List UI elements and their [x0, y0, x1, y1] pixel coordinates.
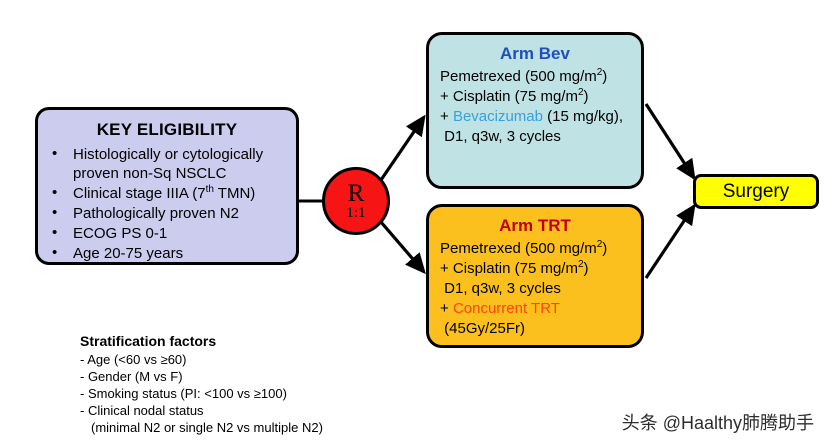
eligibility-item-text: Pathologically proven N2: [73, 205, 239, 222]
arm-bev-regimen: Pemetrexed (500 mg/m2) + Cisplatin (75 m…: [429, 67, 641, 147]
stratification-item: (minimal N2 or single N2 vs multiple N2): [80, 419, 410, 436]
key-eligibility-box: KEY ELIGIBILITY • Histologically or cyto…: [35, 107, 299, 265]
regimen-line: + Concurrent TRT: [440, 299, 641, 319]
bullet-glyph: •: [52, 203, 57, 222]
list-item: • ECOG PS 0-1: [38, 224, 296, 243]
key-eligibility-list: • Histologically or cytologically proven…: [38, 145, 296, 263]
regimen-line: + Cisplatin (75 mg/m2): [440, 87, 641, 107]
randomization-label: R: [348, 182, 365, 205]
connector-randomization-to-arm-bev: [381, 117, 424, 180]
regimen-line: Pemetrexed (500 mg/m2): [440, 67, 641, 87]
stratification-item: - Gender (M vs F): [80, 368, 410, 385]
list-item: • Age 20-75 years: [38, 244, 296, 263]
flowchart-canvas: KEY ELIGIBILITY • Histologically or cyto…: [0, 0, 828, 445]
connector-randomization-to-arm-trt: [381, 222, 424, 272]
connector-arm-trt-to-surgery: [646, 206, 694, 278]
bevacizumab-term: Bevacizumab: [453, 108, 543, 125]
arm-bev-title: Arm Bev: [429, 44, 641, 64]
arm-trt-regimen: Pemetrexed (500 mg/m2) + Cisplatin (75 m…: [429, 239, 641, 339]
watermark: 头条 @Haalthy肺腾助手: [622, 409, 814, 435]
randomization-node: R 1:1: [322, 167, 390, 235]
arm-trt-title: Arm TRT: [429, 216, 641, 236]
list-item: • Histologically or cytologically proven…: [38, 145, 296, 183]
regimen-line: Pemetrexed (500 mg/m2): [440, 239, 641, 259]
list-item: • Pathologically proven N2: [38, 204, 296, 223]
list-item: • Clinical stage IIIA (7th TMN): [38, 184, 296, 203]
eligibility-item-text: Histologically or cytologically proven n…: [73, 146, 263, 182]
randomization-ratio: 1:1: [346, 205, 365, 221]
stratification-factors: Stratification factors - Age (<60 vs ≥60…: [80, 333, 410, 436]
bullet-glyph: •: [52, 183, 57, 202]
stratification-item: - Clinical nodal status: [80, 402, 410, 419]
eligibility-item-text: ECOG PS 0-1: [73, 225, 167, 242]
surgery-box: Surgery: [693, 174, 819, 209]
bullet-glyph: •: [52, 223, 57, 242]
bullet-glyph: •: [52, 144, 57, 163]
eligibility-item-text: Clinical stage IIIA (7th TMN): [73, 185, 255, 202]
bullet-glyph: •: [52, 243, 57, 262]
surgery-label: Surgery: [723, 181, 790, 203]
key-eligibility-title: KEY ELIGIBILITY: [38, 120, 296, 140]
stratification-title: Stratification factors: [80, 333, 410, 349]
regimen-line: (45Gy/25Fr): [440, 319, 641, 339]
concurrent-trt-term: Concurrent TRT: [453, 300, 560, 317]
regimen-line: + Cisplatin (75 mg/m2): [440, 259, 641, 279]
regimen-line: D1, q3w, 3 cycles: [440, 127, 641, 147]
arm-trt-box: Arm TRT Pemetrexed (500 mg/m2) + Cisplat…: [426, 204, 644, 348]
regimen-line: + Bevacizumab (15 mg/kg),: [440, 107, 641, 127]
arm-bev-box: Arm Bev Pemetrexed (500 mg/m2) + Cisplat…: [426, 32, 644, 189]
stratification-item: - Smoking status (PI: <100 vs ≥100): [80, 385, 410, 402]
stratification-item: - Age (<60 vs ≥60): [80, 351, 410, 368]
eligibility-item-text: Age 20-75 years: [73, 245, 183, 262]
connector-arm-bev-to-surgery: [646, 104, 694, 178]
regimen-line: D1, q3w, 3 cycles: [440, 279, 641, 299]
